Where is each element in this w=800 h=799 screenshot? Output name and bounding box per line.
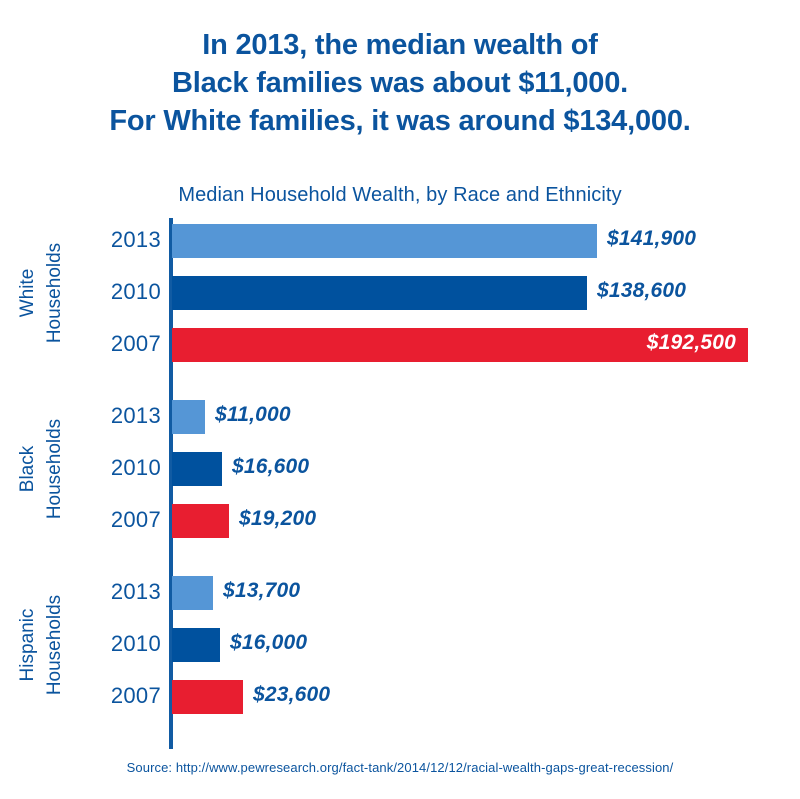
bar-value-label: $192,500 [618, 331, 736, 355]
year-label: 2013 [75, 579, 161, 605]
headline-block: In 2013, the median wealth of Black fami… [0, 26, 800, 140]
year-label: 2010 [75, 455, 161, 481]
bar-2010 [172, 452, 222, 486]
bar-row: 2010$16,000 [0, 628, 800, 662]
bar-value-label: $13,700 [223, 579, 300, 603]
headline-line-2: Black families was about $11,000. [0, 64, 800, 102]
bar-value-label: $19,200 [239, 507, 316, 531]
bar-value-label: $141,900 [607, 227, 696, 251]
bar-2007 [172, 680, 243, 714]
bar-value-label: $23,600 [253, 683, 330, 707]
bar-chart: WhiteHouseholds2013$141,9002010$138,6002… [0, 214, 800, 754]
bar-row: 2010$16,600 [0, 452, 800, 486]
bar-2010 [172, 628, 220, 662]
bar-value-label: $138,600 [597, 279, 686, 303]
bar-row: 2010$138,600 [0, 276, 800, 310]
year-label: 2007 [75, 507, 161, 533]
bar-group: BlackHouseholds2013$11,0002010$16,600200… [0, 400, 800, 538]
bar-row: 2013$13,700 [0, 576, 800, 610]
bar-2007 [172, 504, 229, 538]
bar-row: 2013$11,000 [0, 400, 800, 434]
bar-2013 [172, 576, 213, 610]
bar-group: WhiteHouseholds2013$141,9002010$138,6002… [0, 224, 800, 362]
source-note: Source: http://www.pewresearch.org/fact-… [0, 760, 800, 775]
headline-line-1: In 2013, the median wealth of [0, 26, 800, 64]
bar-row: 2013$141,900 [0, 224, 800, 258]
bar-value-label: $16,600 [232, 455, 309, 479]
bar-2013 [172, 400, 205, 434]
year-label: 2013 [75, 403, 161, 429]
headline-line-3: For White families, it was around $134,0… [0, 102, 800, 140]
bar-row: 2007$23,600 [0, 680, 800, 714]
bar-group: HispanicHouseholds2013$13,7002010$16,000… [0, 576, 800, 714]
chart-subtitle: Median Household Wealth, by Race and Eth… [0, 184, 800, 207]
year-label: 2013 [75, 227, 161, 253]
bar-row: 2007$19,200 [0, 504, 800, 538]
bar-2010 [172, 276, 587, 310]
year-label: 2010 [75, 631, 161, 657]
year-label: 2007 [75, 331, 161, 357]
bar-row: 2007$192,500 [0, 328, 800, 362]
year-label: 2007 [75, 683, 161, 709]
year-label: 2010 [75, 279, 161, 305]
bar-value-label: $11,000 [215, 403, 291, 427]
bar-value-label: $16,000 [230, 631, 307, 655]
bar-2013 [172, 224, 597, 258]
